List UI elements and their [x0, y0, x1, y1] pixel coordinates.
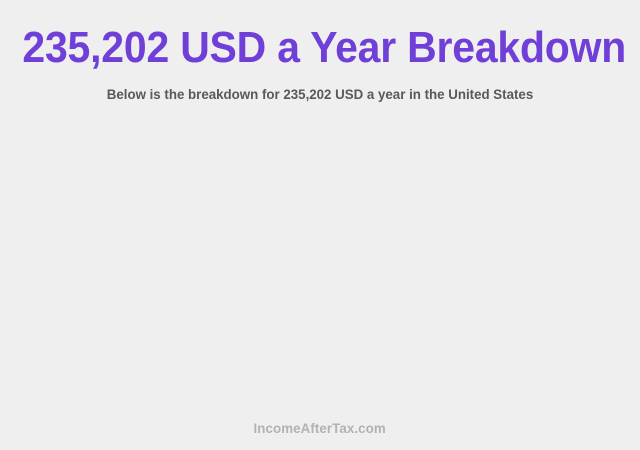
- site-brand-label: IncomeAfterTax.com: [254, 420, 386, 436]
- page-footer: IncomeAfterTax.com: [0, 420, 640, 438]
- breakdown-content-area: [0, 112, 640, 408]
- page-subtitle: Below is the breakdown for 235,202 USD a…: [16, 85, 624, 103]
- page-root: 235,202 USD a Year Breakdown Below is th…: [0, 0, 640, 450]
- page-title: 235,202 USD a Year Breakdown: [22, 23, 617, 73]
